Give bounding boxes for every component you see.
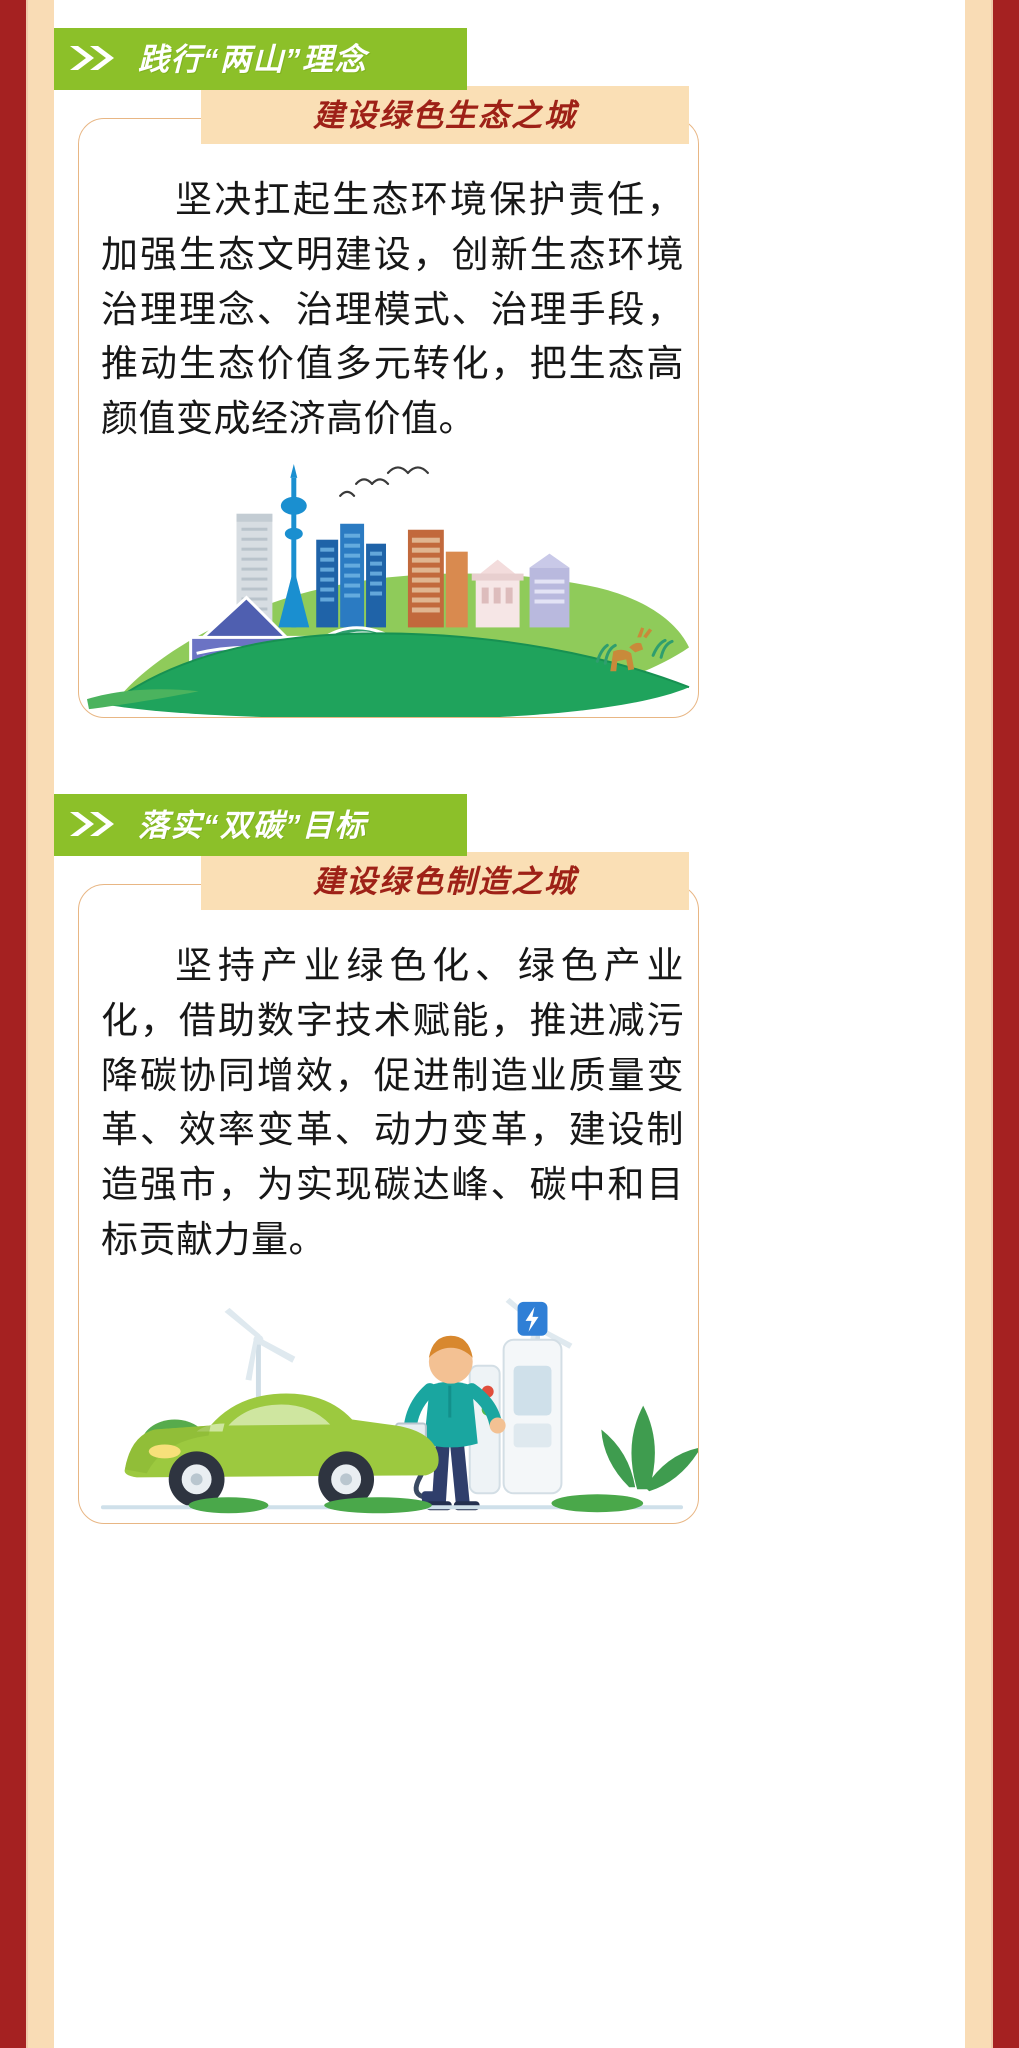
page-frame-right-red	[991, 0, 1019, 2048]
section-2-body-text: 坚持产业绿色化、绿色产业化，借助数字技术赋能，推进减污降碳协同增效，促进制造业质…	[79, 939, 698, 1268]
section-2-banner: 建设绿色制造之城	[201, 852, 689, 910]
section-green-manufacturing: 落实“双碳”目标 建设绿色制造之城 坚持产业绿色化、绿色产业化，借助数字技术赋能…	[54, 794, 965, 1524]
page-frame-right-peach	[965, 0, 991, 2048]
section-1-ribbon-label: 践行“两山”理念	[138, 44, 367, 75]
section-2-ribbon-header: 落实“双碳”目标	[54, 794, 467, 856]
section-1-banner: 建设绿色生态之城	[201, 86, 689, 144]
green-leaf-city-skyline-illustration	[79, 448, 698, 717]
double-chevron-right-icon	[68, 43, 122, 73]
section-1-card: 坚决扛起生态环境保护责任，加强生态文明建设，创新生态环境治理理念、治理模式、治理…	[78, 118, 699, 718]
section-2-ribbon-label: 落实“双碳”目标	[138, 810, 367, 841]
section-green-ecology: 践行“两山”理念 建设绿色生态之城 坚决扛起生态环境保护责任，加强生态文明建设，…	[54, 28, 965, 718]
page-frame-left-red	[0, 0, 28, 2048]
section-2-banner-label: 建设绿色制造之城	[313, 866, 577, 897]
section-2-card: 坚持产业绿色化、绿色产业化，借助数字技术赋能，推进减污降碳协同增效，促进制造业质…	[78, 884, 699, 1524]
double-chevron-right-icon	[68, 809, 122, 839]
section-1-banner-label: 建设绿色生态之城	[313, 100, 577, 131]
content-column: 践行“两山”理念 建设绿色生态之城 坚决扛起生态环境保护责任，加强生态文明建设，…	[54, 0, 965, 2048]
section-1-body-text: 坚决扛起生态环境保护责任，加强生态文明建设，创新生态环境治理理念、治理模式、治理…	[79, 173, 698, 447]
page-frame-left-peach	[28, 0, 54, 2048]
section-1-ribbon-header: 践行“两山”理念	[54, 28, 467, 90]
ev-charging-station-illustration	[79, 1274, 698, 1523]
infographic-page: 践行“两山”理念 建设绿色生态之城 坚决扛起生态环境保护责任，加强生态文明建设，…	[0, 0, 1019, 2048]
